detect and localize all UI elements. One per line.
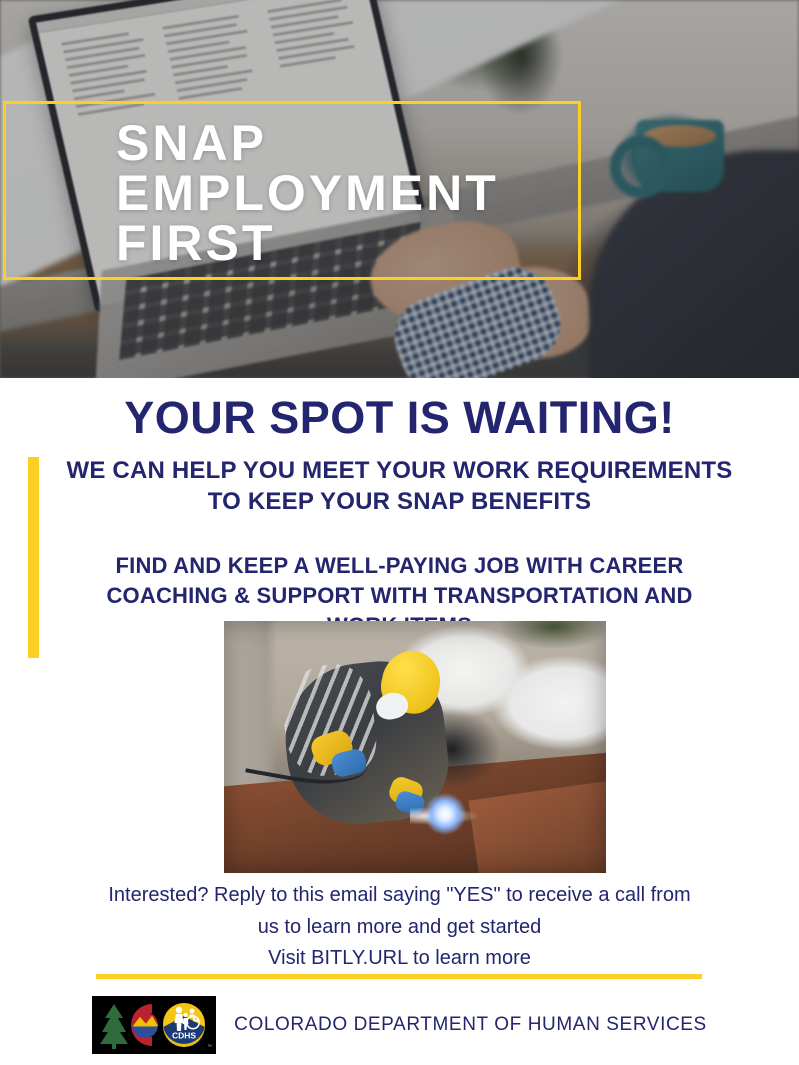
cta-line-3: Visit BITLY.URL to learn more <box>0 943 799 975</box>
footer-organization-name: COLORADO DEPARTMENT OF HUMAN SERVICES <box>234 1014 707 1036</box>
page-title: YOUR SPOT IS WAITING! <box>0 392 799 444</box>
hero-title-line-3: FIRST <box>116 218 756 268</box>
hero-title-line-1: SNAP <box>116 118 756 168</box>
hero-title-line-2: EMPLOYMENT <box>116 168 756 218</box>
colorado-cdhs-logo-icon: CDHS ™ <box>92 996 216 1054</box>
hero-banner: SNAP EMPLOYMENT FIRST <box>0 0 799 378</box>
subheading-primary: WE CAN HELP YOU MEET YOUR WORK REQUIREME… <box>50 456 750 517</box>
footer: CDHS ™ COLORADO DEPARTMENT OF HUMAN SERV… <box>0 996 799 1054</box>
call-to-action: Interested? Reply to this email saying "… <box>0 880 799 975</box>
cdhs-logo: CDHS ™ <box>92 996 216 1054</box>
main-content: YOUR SPOT IS WAITING! WE CAN HELP YOU ME… <box>0 378 799 1065</box>
welder-photo <box>224 621 606 873</box>
photo-vignette <box>224 621 606 873</box>
cta-line-2: us to learn more and get started <box>0 912 799 944</box>
svg-text:™: ™ <box>207 1044 212 1050</box>
footer-divider <box>96 974 702 979</box>
cta-line-1: Interested? Reply to this email saying "… <box>0 880 799 912</box>
hero-title: SNAP EMPLOYMENT FIRST <box>116 118 756 268</box>
cdhs-logo-text: CDHS <box>172 1031 196 1041</box>
yellow-accent-bar <box>28 457 39 658</box>
